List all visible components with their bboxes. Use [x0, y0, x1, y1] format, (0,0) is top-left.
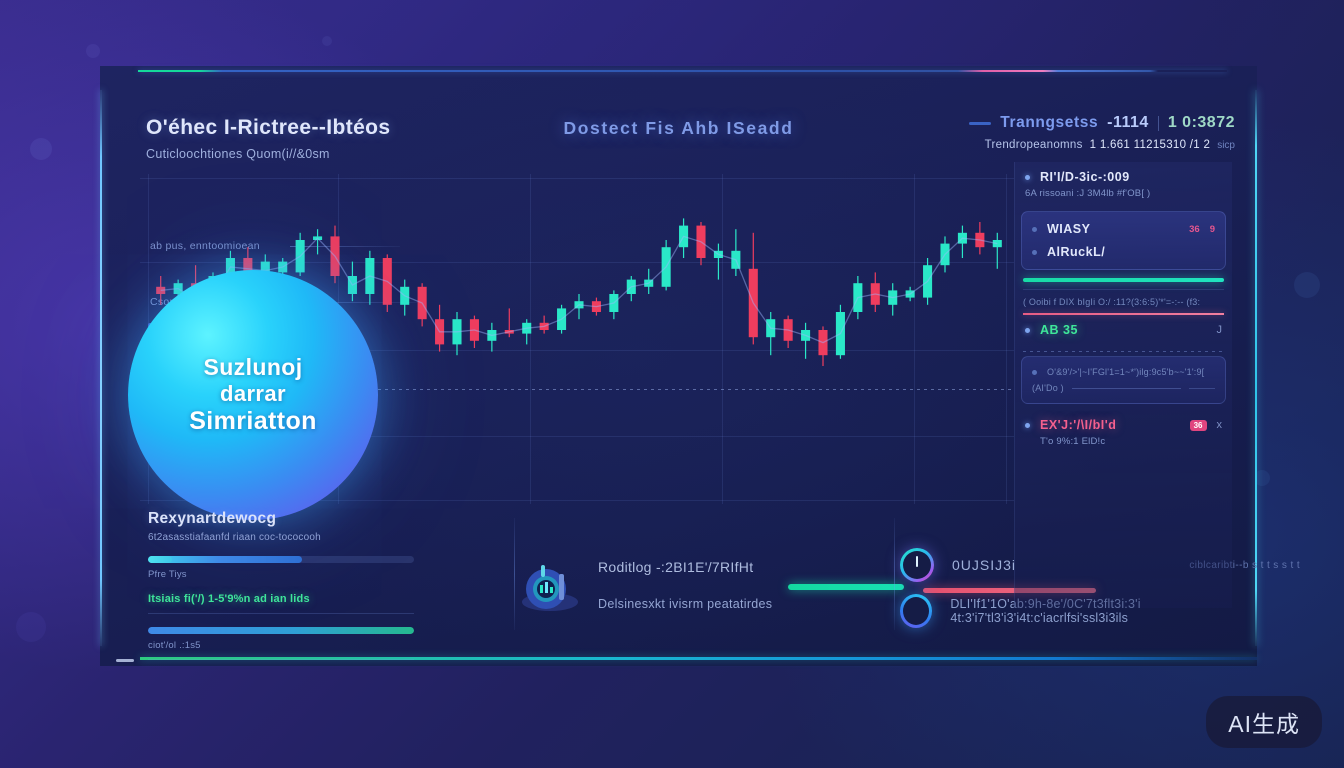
progress-track[interactable]	[148, 627, 414, 634]
list-item-subtitle: (AI'Do )	[1032, 383, 1064, 393]
side-divider	[1023, 289, 1224, 290]
close-icon[interactable]: x	[1217, 419, 1223, 431]
feature-middle-title: Roditlog -:2BI1E'/7RIfHt	[598, 559, 772, 575]
status-badge: 9	[1210, 224, 1215, 235]
metrics-subtitle: 6t2asasstiafaanfd riaan coc-tococooh	[148, 532, 414, 543]
frame-top-accent-line	[138, 70, 1227, 72]
metric-row-label-highlight: Itsiais fi('/) 1-5'9%n ad ian lids	[148, 593, 414, 605]
sphere-line-3: Simriatton	[189, 407, 317, 437]
data-processing-icon	[520, 556, 582, 614]
list-item-title: WIASY	[1047, 222, 1090, 236]
list-item-title: ( Ooibi f DIX bIgIi O:/ :11?(3:6:5)'*'=-…	[1023, 297, 1224, 307]
bullet-dot-icon	[1025, 423, 1030, 428]
feature-right-label: 0UJSIJ3i	[952, 557, 1016, 573]
list-item-subtitle: AlRuckL/	[1047, 245, 1105, 259]
section-divider	[894, 518, 895, 630]
bullet-dot-icon	[1032, 370, 1037, 375]
list-item-header: O'&9'/>'|~I'FGl'1=1~*')ilg:9c5'b~~'1':9[	[1032, 367, 1215, 377]
progress-fill	[148, 627, 414, 634]
background-bokeh-dot	[86, 44, 100, 58]
feature-middle-row: Roditlog -:2BI1E'/7RIfHt Delsinesxkt ivi…	[520, 556, 850, 614]
list-item-title: AB 35	[1040, 323, 1078, 337]
list-item-title: EX'J:'/\I/bI'd	[1040, 418, 1116, 432]
metric-row-label: ciot'/ol .:1s5	[148, 640, 414, 651]
feature-middle-subtitle: Delsinesxkt ivisrm peatatirdes	[598, 597, 772, 611]
metric-separator	[1158, 116, 1159, 131]
sphere-line-2: darrar	[220, 381, 286, 407]
metric-rule	[148, 613, 414, 614]
dash-icon	[969, 122, 991, 125]
list-item-badges: J	[1217, 324, 1223, 336]
page-subtitle: Cuticloochtiones Quom(i//&0sm	[146, 147, 391, 161]
bullet-dot-icon	[1025, 328, 1030, 333]
header-right-metrics: Tranngsetss -1114 1 0:3872 Trendropeanom…	[969, 114, 1235, 151]
background-bokeh-dot	[1294, 272, 1320, 298]
feature-middle: Roditlog -:2BI1E'/7RIfHt Delsinesxkt ivi…	[520, 556, 850, 614]
list-item[interactable]: O'&9'/>'|~I'FGl'1=1~*')ilg:9c5'b~~'1':9[…	[1021, 356, 1226, 404]
background-bokeh-dot	[30, 138, 52, 160]
page-title: O'éhec I-Rictree--Ibtéos	[146, 116, 391, 140]
metric-primary-row: Tranngsetss -1114 1 0:3872	[969, 114, 1235, 132]
list-item[interactable]: RI'I/D-3ic-:009 6A rissoani :J 3M4lb #f'…	[1015, 162, 1232, 207]
metric-value-2: 1 0:3872	[1168, 114, 1235, 132]
frame-left-accent-line	[100, 90, 102, 646]
status-badge: J	[1217, 324, 1223, 336]
list-item-header: RI'I/D-3ic-:009	[1025, 170, 1222, 184]
metric-sub-tag: sicp	[1217, 140, 1235, 151]
list-item[interactable]: EX'J:'/\I/bI'd 36 x T'o 9%:1 ElD!c	[1015, 410, 1232, 455]
metric-rule	[148, 659, 414, 660]
list-item-title: RI'I/D-3ic-:009	[1040, 170, 1130, 184]
ai-generated-watermark: AI生成	[1206, 696, 1322, 748]
metric-label: Tranngsetss	[1000, 114, 1098, 132]
status-badge: 36	[1190, 420, 1207, 431]
metric-row[interactable]: ciot'/ol .:1s5	[148, 627, 414, 660]
list-item-header: AB 35 J	[1025, 323, 1222, 337]
side-dashed-divider	[1023, 351, 1224, 352]
inline-rule	[1072, 388, 1181, 389]
inline-rule-short	[1189, 388, 1215, 389]
status-badge: 36	[1189, 224, 1200, 235]
metric-secondary-row: Trendropeanomns 1 1.661 11215310 /1 2 si…	[969, 139, 1235, 151]
bullet-dot-icon	[1032, 227, 1037, 232]
frame-bottom-tick	[116, 659, 134, 662]
circle-ring-icon	[900, 594, 932, 628]
metric-row[interactable]: Pfre Tiys	[148, 556, 414, 580]
metric-value-1: -1114	[1107, 114, 1149, 132]
gauge-ring-icon	[900, 548, 934, 582]
side-panel: RI'I/D-3ic-:009 6A rissoani :J 3M4lb #f'…	[1014, 162, 1232, 608]
metric-row[interactable]: Itsiais fi('/) 1-5'9%n ad ian lids	[148, 593, 414, 614]
list-item-subtitle: 6A rissoani :J 3M4lb #f'OB[ )	[1025, 188, 1222, 199]
list-item-subrow: (AI'Do )	[1032, 383, 1215, 393]
progress-cap	[148, 556, 172, 563]
list-item-badges: 36 9	[1189, 224, 1215, 235]
list-item[interactable]: WIASY 36 9 AlRuckL/	[1021, 211, 1226, 270]
list-item-title: O'&9'/>'|~I'FGl'1=1~*')ilg:9c5'b~~'1':9[	[1047, 367, 1204, 377]
bullet-dot-icon	[1032, 250, 1037, 255]
chart-title: Dostect Fis Ahb ISeadd	[564, 118, 794, 139]
section-divider	[514, 518, 515, 630]
metrics-panel: Rexynartdewocg 6t2asasstiafaanfd riaan c…	[148, 510, 414, 660]
list-item-header: EX'J:'/\I/bI'd 36 x	[1025, 418, 1222, 432]
feature-middle-text: Roditlog -:2BI1E'/7RIfHt Delsinesxkt ivi…	[598, 559, 772, 611]
list-item-subrow: AlRuckL/	[1032, 245, 1215, 259]
gauge-needle-icon	[916, 556, 918, 567]
progress-track[interactable]	[148, 556, 414, 563]
list-item-subtitle: T'o 9%:1 ElD!c	[1040, 436, 1222, 447]
background-bokeh-dot	[16, 612, 46, 642]
metric-row-label: Pfre Tiys	[148, 569, 414, 580]
metric-sub-label: Trendropeanomns	[985, 139, 1083, 151]
metric-sub-value: 1 1.661 11215310 /1 2	[1090, 139, 1211, 151]
metrics-title: Rexynartdewocg	[148, 510, 414, 528]
list-item-badges: 36 x	[1190, 419, 1222, 431]
background-bokeh-dot	[322, 36, 332, 46]
ai-watermark-label: AI生成	[1228, 705, 1300, 739]
bullet-dot-icon	[1025, 175, 1030, 180]
list-item-header: WIASY 36 9	[1032, 222, 1215, 236]
sphere-line-1: Suzlunoj	[203, 354, 302, 381]
header-left: O'éhec I-Rictree--Ibtéos Cuticloochtione…	[146, 116, 391, 161]
simulation-sphere[interactable]: Suzlunoj darrar Simriatton	[128, 270, 378, 520]
dashboard-frame: O'éhec I-Rictree--Ibtéos Cuticloochtione…	[100, 66, 1257, 666]
list-item[interactable]: AB 35 J	[1015, 315, 1232, 345]
side-accent-bar-green	[1023, 278, 1224, 282]
